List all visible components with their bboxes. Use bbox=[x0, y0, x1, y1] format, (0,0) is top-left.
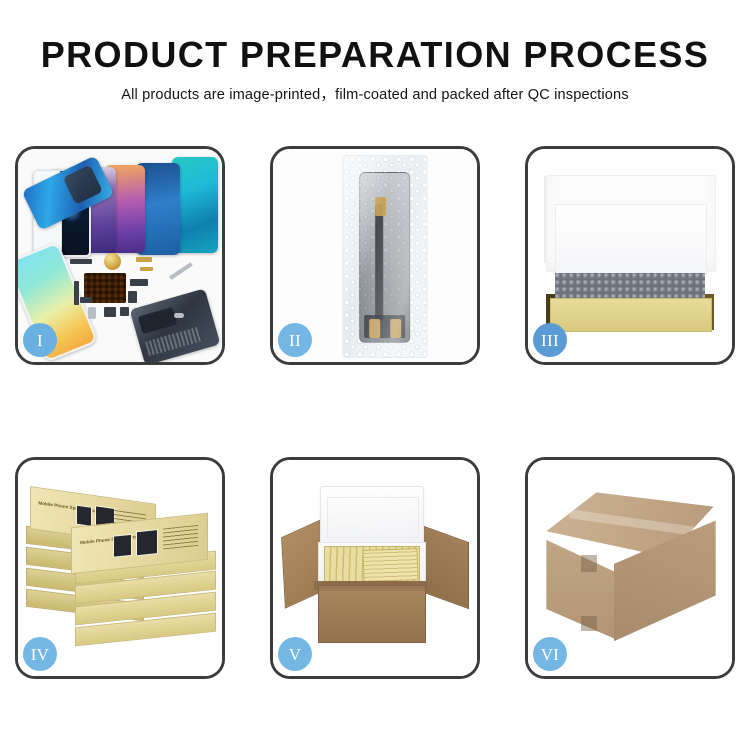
step-badge-4: IV bbox=[23, 637, 57, 671]
styrofoam-lid bbox=[320, 486, 424, 548]
carton-front-face bbox=[318, 585, 426, 643]
box-window-phone bbox=[75, 505, 92, 528]
step-badge-4-label: IV bbox=[31, 646, 50, 663]
box-window-phone bbox=[136, 529, 158, 557]
kraft-box-front bbox=[550, 298, 711, 332]
box-window-phone bbox=[113, 533, 133, 558]
spare-part bbox=[70, 259, 92, 264]
spare-part bbox=[74, 281, 79, 305]
step-badge-3: III bbox=[533, 323, 567, 357]
spare-part bbox=[130, 279, 148, 286]
spare-part bbox=[88, 307, 96, 319]
step-badge-6-label: VI bbox=[541, 646, 560, 663]
spare-part bbox=[140, 267, 153, 271]
process-step-grid: I II bbox=[15, 146, 735, 679]
step-badge-6: VI bbox=[533, 637, 567, 671]
copper-coil-part bbox=[104, 253, 121, 270]
step-badge-2: II bbox=[278, 323, 312, 357]
spare-part bbox=[104, 307, 116, 317]
step-badge-1: I bbox=[23, 323, 57, 357]
process-step-4: Mobile Phone Spare Parts Mobile Phone Sp… bbox=[15, 457, 225, 679]
process-step-2: II bbox=[270, 146, 480, 365]
process-step-3: III bbox=[525, 146, 735, 365]
step-badge-1-label: I bbox=[37, 332, 43, 349]
spare-part bbox=[120, 307, 129, 316]
carton-tape-lower bbox=[581, 616, 597, 631]
white-foam-sheet bbox=[555, 204, 708, 274]
box-spec-lines bbox=[163, 524, 198, 548]
kraft-boxes-inside bbox=[362, 548, 418, 582]
plastic-gloss bbox=[343, 156, 427, 356]
spare-part bbox=[80, 297, 92, 303]
spare-part bbox=[128, 291, 137, 303]
carton-tape-upper bbox=[581, 555, 597, 572]
product-preparation-process-infographic: PRODUCT PREPARATION PROCESS All products… bbox=[0, 0, 750, 750]
step-badge-2-label: II bbox=[289, 332, 301, 349]
process-step-6: VI bbox=[525, 457, 735, 679]
process-step-5: V bbox=[270, 457, 480, 679]
page-title: PRODUCT PREPARATION PROCESS bbox=[0, 36, 750, 74]
bubble-wrap-contents bbox=[555, 273, 706, 299]
header: PRODUCT PREPARATION PROCESS All products… bbox=[0, 36, 750, 104]
step-badge-5: V bbox=[278, 637, 312, 671]
spare-part bbox=[136, 257, 152, 262]
spare-part bbox=[174, 313, 184, 318]
step-badge-5-label: V bbox=[289, 646, 302, 663]
page-subtitle: All products are image-printed，film-coat… bbox=[0, 83, 750, 104]
kraft-box-stack: Mobile Phone Spare Parts Mobile Phone Sp… bbox=[26, 482, 214, 655]
process-step-1: I bbox=[15, 146, 225, 365]
bubble-wrap-bag bbox=[342, 155, 428, 357]
step-badge-3-label: III bbox=[541, 332, 559, 349]
